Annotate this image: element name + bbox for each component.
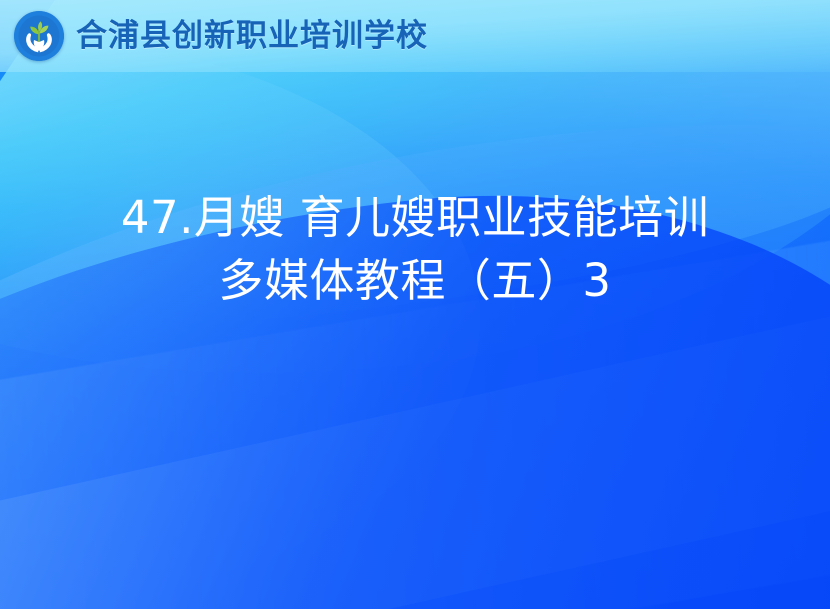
hands-sprout-logo-icon: [14, 11, 64, 61]
slide-title-line-1: 47.月嫂 育儿嫂职业技能培训: [0, 186, 830, 249]
slide-title-line-2: 多媒体教程（五）3: [0, 249, 830, 312]
slide-header: 合浦县创新职业培训学校: [0, 0, 830, 72]
presentation-slide: 合浦县创新职业培训学校 47.月嫂 育儿嫂职业技能培训 多媒体教程（五）3: [0, 0, 830, 609]
school-name-label: 合浦县创新职业培训学校: [76, 21, 428, 52]
slide-title: 47.月嫂 育儿嫂职业技能培训 多媒体教程（五）3: [0, 186, 830, 312]
